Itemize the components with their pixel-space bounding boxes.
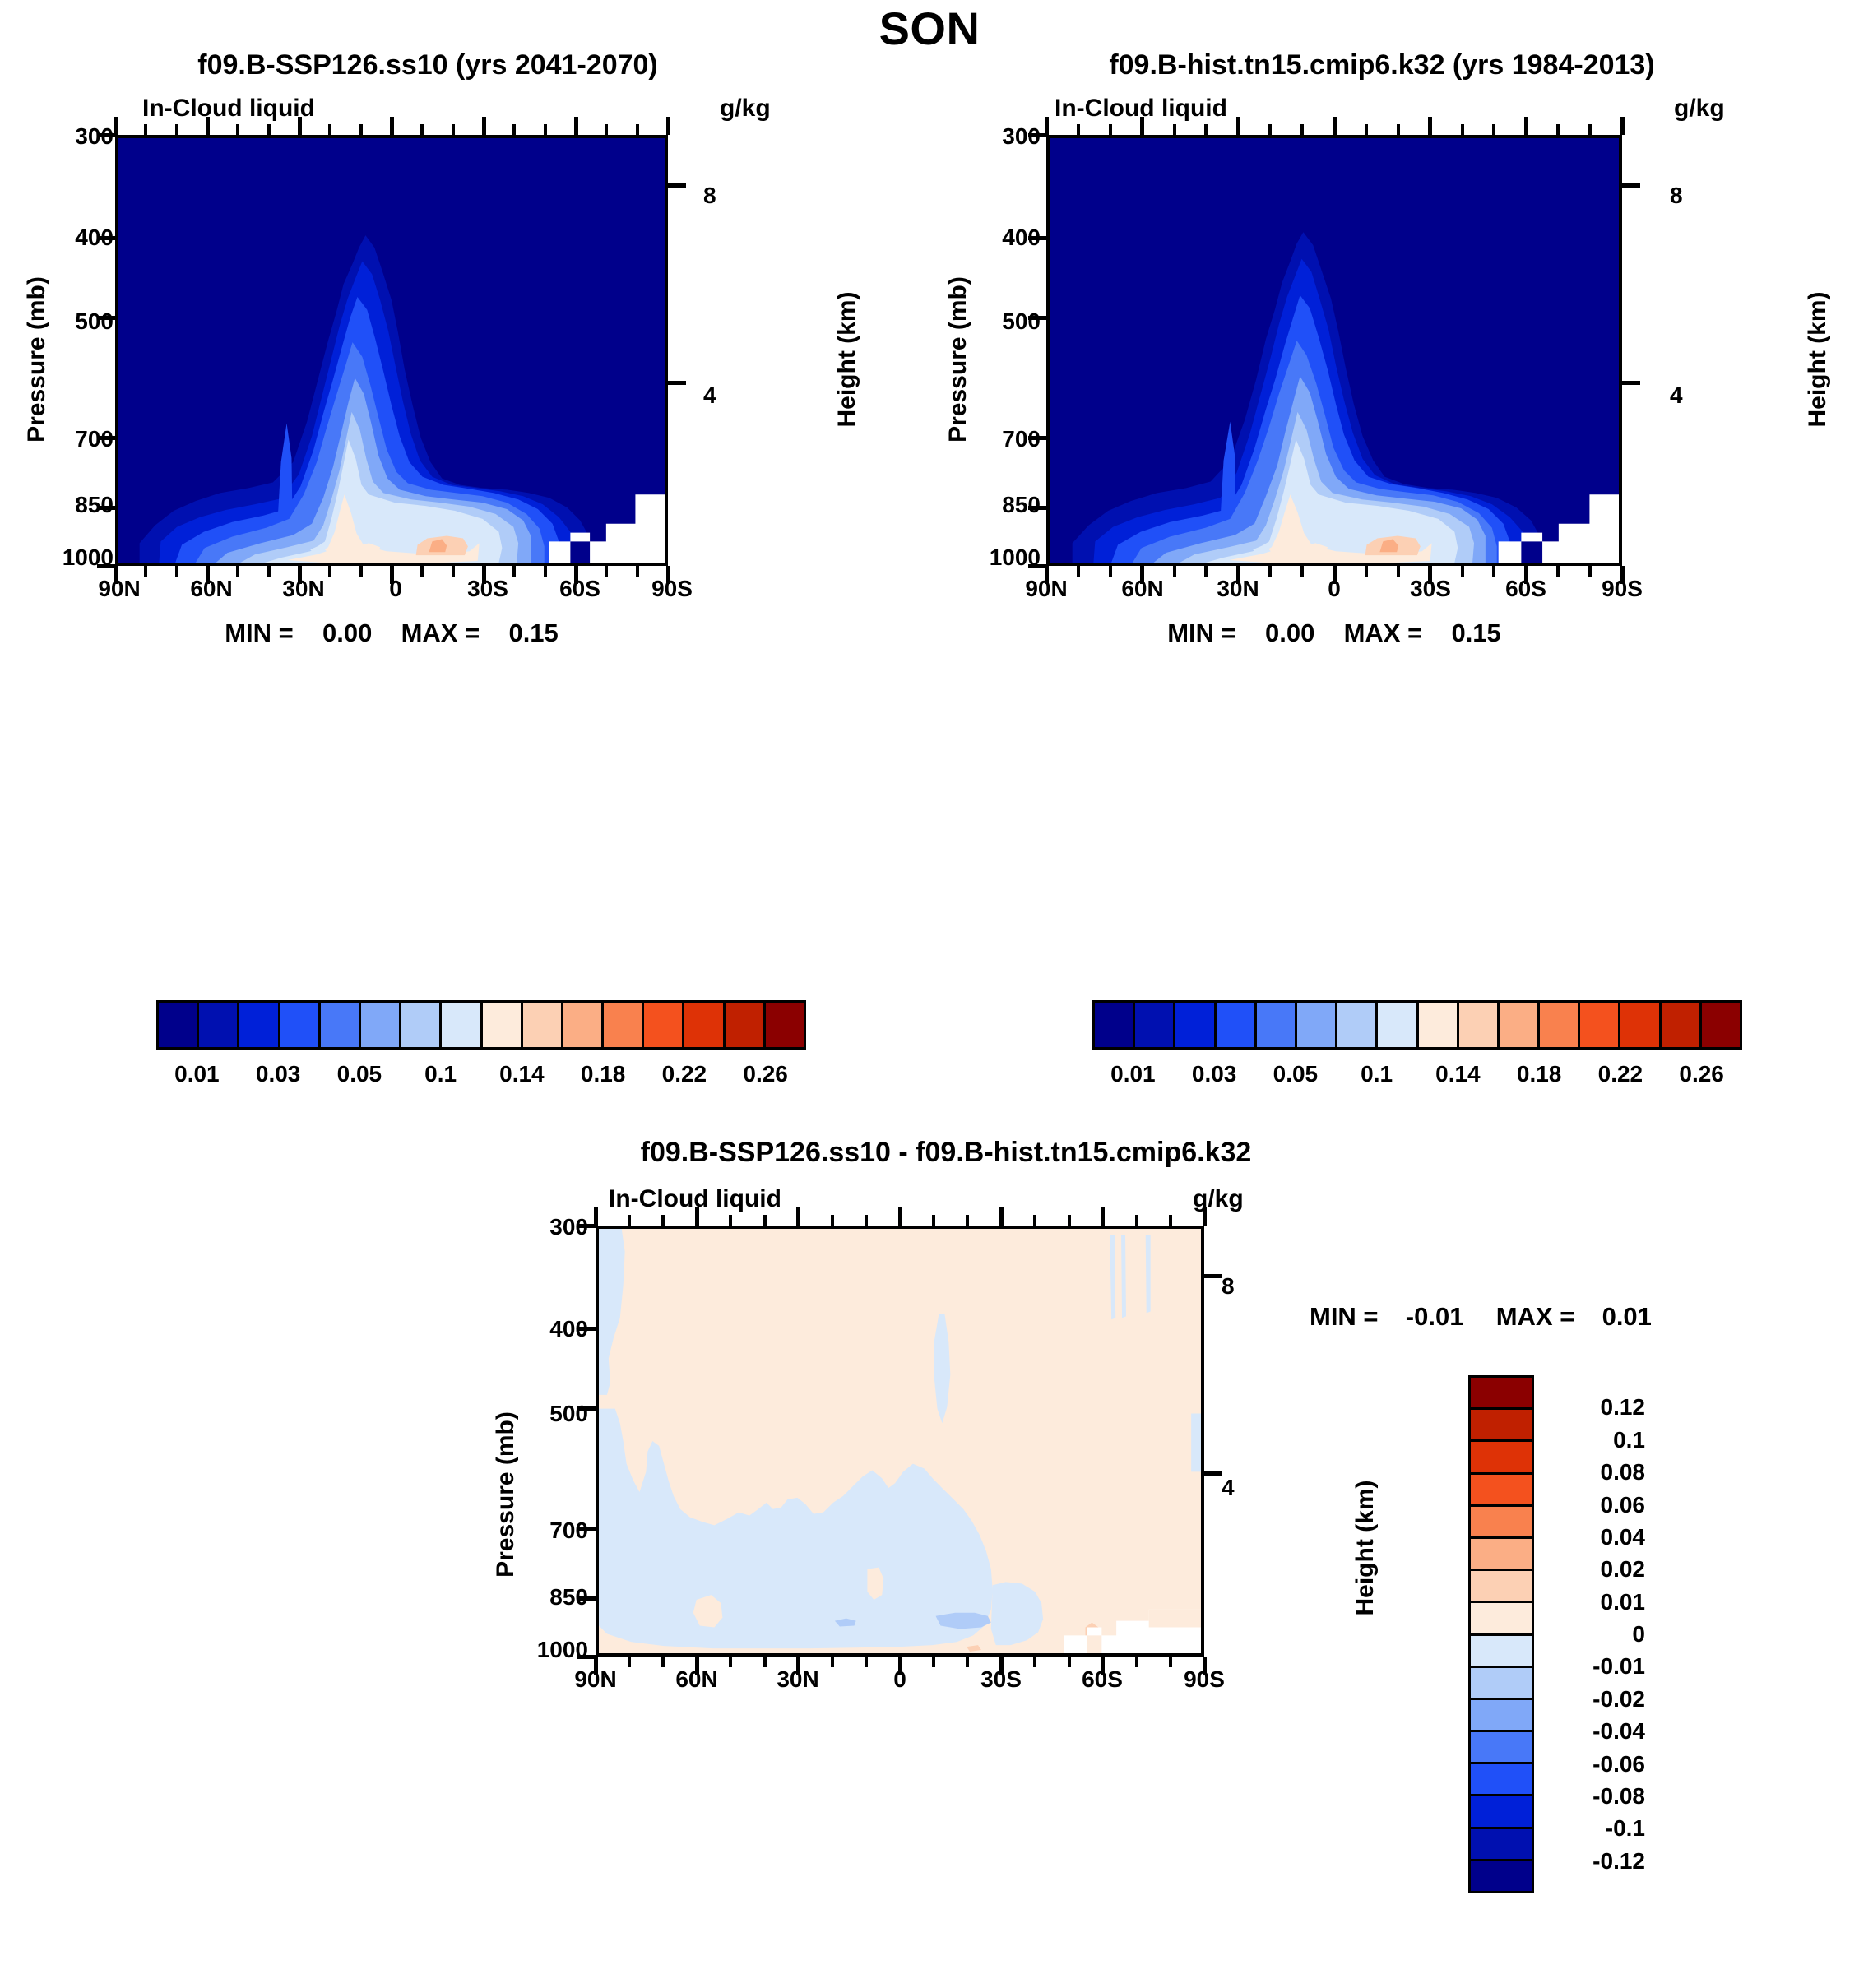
axis-tick bbox=[114, 117, 118, 135]
axis-tick bbox=[1135, 1215, 1138, 1226]
max-label-top-right: MAX = bbox=[1344, 619, 1423, 647]
panel-title-top-right: f09.B-hist.tn15.cmip6.k32 (yrs 1984-2013… bbox=[946, 49, 1818, 81]
colorbar-swatch[interactable] bbox=[766, 1003, 804, 1047]
axis-tick bbox=[1492, 124, 1495, 135]
ytick-height-8-top-right: 8 bbox=[1670, 183, 1683, 209]
ytick-height-4-bottom: 4 bbox=[1222, 1475, 1235, 1501]
colorbar-tick-label: 0.05 bbox=[1273, 1061, 1319, 1087]
colorbar-tick-label: -0.04 bbox=[1546, 1718, 1645, 1745]
axis-tick bbox=[359, 124, 363, 135]
ytick-700-top-right: 700 bbox=[975, 426, 1041, 452]
axis-tick bbox=[1428, 117, 1432, 135]
axis-tick bbox=[1077, 124, 1080, 135]
colorbar-tick-label: 0.26 bbox=[1679, 1061, 1724, 1087]
xtick-0-bottom: 0 bbox=[867, 1666, 933, 1693]
panel-title-bottom: f09.B-SSP126.ss10 - f09.B-hist.tn15.cmip… bbox=[494, 1137, 1398, 1169]
xtick-60S-bottom: 60S bbox=[1069, 1666, 1135, 1693]
colorbar-swatch[interactable] bbox=[1540, 1003, 1580, 1047]
ytick-1000-top-right: 1000 bbox=[960, 544, 1041, 571]
height-axis-label-bottom: Height (km) bbox=[1351, 1441, 1379, 1655]
ytick-300-top-right: 300 bbox=[975, 123, 1041, 150]
xtick-90N-top-left: 90N bbox=[86, 576, 152, 602]
colorbar-swatch[interactable] bbox=[1471, 1861, 1532, 1891]
xtick-30N-bottom: 30N bbox=[765, 1666, 831, 1693]
axis-tick bbox=[1620, 117, 1625, 135]
colorbar-tick-label: -0.02 bbox=[1546, 1686, 1645, 1712]
colorbar-swatch[interactable] bbox=[1471, 1603, 1532, 1635]
xtick-30N-top-left: 30N bbox=[271, 576, 336, 602]
colorbar-swatch[interactable] bbox=[239, 1003, 280, 1047]
colorbar-swatch[interactable] bbox=[321, 1003, 361, 1047]
axis-tick bbox=[1101, 1207, 1105, 1226]
height-axis-label-top-left: Height (km) bbox=[833, 253, 861, 466]
colorbar-tick-label: 0.1 bbox=[1546, 1427, 1645, 1453]
min-label-top-right: MIN = bbox=[1167, 619, 1236, 647]
axis-tick bbox=[661, 1215, 665, 1226]
axis-tick bbox=[729, 1215, 732, 1226]
axis-tick bbox=[236, 124, 239, 135]
colorbar-top-left[interactable] bbox=[156, 1000, 806, 1050]
axis-tick bbox=[636, 124, 639, 135]
colorbar-labels-top-right: 0.010.030.050.10.140.180.220.26 bbox=[1092, 1061, 1742, 1094]
minmax-bottom: MIN = -0.01 MAX = 0.01 bbox=[1310, 1302, 1652, 1332]
xtick-0-top-left: 0 bbox=[363, 576, 429, 602]
axis-tick bbox=[628, 1215, 631, 1226]
units-label-top-right: g/kg bbox=[1674, 95, 1725, 123]
colorbar-swatch[interactable] bbox=[1257, 1003, 1297, 1047]
ytick-850-bottom: 850 bbox=[522, 1584, 588, 1610]
axis-tick bbox=[1622, 183, 1640, 188]
ytick-850-top-left: 850 bbox=[48, 492, 114, 518]
colorbar-tick-label: 0.18 bbox=[1517, 1061, 1562, 1087]
min-label-top-left: MIN = bbox=[225, 619, 294, 647]
colorbar-swatch[interactable] bbox=[361, 1003, 401, 1047]
ytick-400-top-left: 400 bbox=[48, 225, 114, 251]
colorbar-tick-label: 0.14 bbox=[499, 1061, 545, 1087]
colorbar-swatch[interactable] bbox=[1500, 1003, 1540, 1047]
colorbar-swatch[interactable] bbox=[1297, 1003, 1337, 1047]
colorbar-swatch[interactable] bbox=[280, 1003, 321, 1047]
colorbar-swatch[interactable] bbox=[1419, 1003, 1459, 1047]
min-value-top-left: 0.00 bbox=[322, 619, 372, 647]
colorbar-swatch[interactable] bbox=[1175, 1003, 1216, 1047]
colorbar-swatch[interactable] bbox=[1471, 1764, 1532, 1796]
colorbar-tick-label: -0.01 bbox=[1546, 1653, 1645, 1680]
minmax-top-right: MIN = 0.00 MAX = 0.15 bbox=[1046, 619, 1622, 648]
colorbar-swatch[interactable] bbox=[1471, 1668, 1532, 1700]
colorbar-swatch[interactable] bbox=[401, 1003, 442, 1047]
xtick-60S-top-left: 60S bbox=[547, 576, 613, 602]
axis-tick bbox=[1169, 1215, 1172, 1226]
xtick-60N-bottom: 60N bbox=[664, 1666, 730, 1693]
ytick-850-top-right: 850 bbox=[975, 492, 1041, 518]
colorbar-swatch[interactable] bbox=[1471, 1796, 1532, 1828]
colorbar-swatch[interactable] bbox=[1471, 1539, 1532, 1571]
xtick-0-top-right: 0 bbox=[1301, 576, 1367, 602]
colorbar-swatch[interactable] bbox=[1471, 1829, 1532, 1861]
variable-label-bottom: In-Cloud liquid bbox=[609, 1185, 781, 1213]
axis-tick bbox=[175, 124, 178, 135]
pressure-axis-label-top-right: Pressure (mb) bbox=[944, 253, 972, 466]
ytick-height-8-bottom: 8 bbox=[1222, 1273, 1235, 1300]
axis-tick bbox=[1045, 117, 1049, 135]
xtick-60N-top-right: 60N bbox=[1110, 576, 1175, 602]
min-label-bottom: MIN = bbox=[1310, 1302, 1379, 1331]
colorbar-swatch[interactable] bbox=[1378, 1003, 1418, 1047]
axis-tick bbox=[512, 124, 516, 135]
xtick-30S-bottom: 30S bbox=[968, 1666, 1034, 1693]
axis-tick bbox=[668, 381, 686, 385]
ytick-500-bottom: 500 bbox=[522, 1401, 588, 1427]
ytick-1000-top-left: 1000 bbox=[33, 544, 114, 571]
xtick-30S-top-right: 30S bbox=[1398, 576, 1463, 602]
colorbar-swatch[interactable] bbox=[1471, 1700, 1532, 1732]
ytick-height-4-top-left: 4 bbox=[703, 382, 716, 409]
ytick-height-4-top-right: 4 bbox=[1670, 382, 1683, 409]
axis-tick bbox=[267, 124, 271, 135]
colorbar-swatch[interactable] bbox=[1217, 1003, 1257, 1047]
pressure-axis-label-bottom: Pressure (mb) bbox=[492, 1388, 520, 1601]
ytick-700-bottom: 700 bbox=[522, 1518, 588, 1544]
colorbar-tick-label: 0.12 bbox=[1546, 1394, 1645, 1420]
colorbar-top-right[interactable] bbox=[1092, 1000, 1742, 1050]
ytick-height-8-top-left: 8 bbox=[703, 183, 716, 209]
colorbar-tick-label: 0.1 bbox=[424, 1061, 457, 1087]
axis-tick bbox=[1300, 124, 1304, 135]
axis-tick bbox=[1135, 1657, 1138, 1667]
xtick-30S-top-left: 30S bbox=[455, 576, 521, 602]
colorbar-swatch[interactable] bbox=[1471, 1732, 1532, 1764]
colorbar-tick-label: 0.26 bbox=[743, 1061, 788, 1087]
axis-tick bbox=[1588, 124, 1592, 135]
axis-tick bbox=[1397, 124, 1400, 135]
figure-title: SON bbox=[0, 2, 1859, 55]
xtick-60N-top-left: 60N bbox=[178, 576, 244, 602]
axis-tick bbox=[1033, 1215, 1036, 1226]
colorbar-tick-label: 0.06 bbox=[1546, 1492, 1645, 1518]
max-value-bottom: 0.01 bbox=[1602, 1302, 1652, 1331]
min-value-top-right: 0.00 bbox=[1265, 619, 1314, 647]
axis-tick bbox=[1622, 381, 1640, 385]
axis-tick bbox=[831, 1215, 834, 1226]
colorbar-tick-label: 0.14 bbox=[1435, 1061, 1481, 1087]
axis-tick bbox=[544, 124, 547, 135]
colorbar-swatch[interactable] bbox=[199, 1003, 239, 1047]
colorbar-bottom[interactable] bbox=[1468, 1375, 1534, 1893]
colorbar-tick-label: 0.05 bbox=[337, 1061, 382, 1087]
axis-tick bbox=[1109, 124, 1112, 135]
axis-tick bbox=[594, 1207, 598, 1226]
colorbar-tick-label: -0.12 bbox=[1546, 1848, 1645, 1874]
xtick-90S-top-left: 90S bbox=[639, 576, 705, 602]
ytick-700-top-left: 700 bbox=[48, 426, 114, 452]
axis-tick bbox=[1204, 1274, 1222, 1278]
axis-tick bbox=[1033, 1657, 1036, 1667]
colorbar-tick-label: -0.06 bbox=[1546, 1751, 1645, 1777]
xtick-30N-top-right: 30N bbox=[1205, 576, 1271, 602]
colorbar-swatch[interactable] bbox=[726, 1003, 766, 1047]
xtick-90S-top-right: 90S bbox=[1589, 576, 1655, 602]
colorbar-tick-label: 0.1 bbox=[1361, 1061, 1393, 1087]
ytick-1000-bottom: 1000 bbox=[508, 1637, 588, 1663]
axis-tick bbox=[668, 183, 686, 188]
colorbar-tick-label: -0.08 bbox=[1546, 1783, 1645, 1810]
axis-tick bbox=[482, 117, 486, 135]
colorbar-swatch[interactable] bbox=[442, 1003, 482, 1047]
contour-plot-top-left bbox=[115, 135, 668, 566]
axis-tick bbox=[390, 117, 394, 135]
axis-tick bbox=[1365, 124, 1368, 135]
axis-tick bbox=[763, 1215, 767, 1226]
colorbar-swatch[interactable] bbox=[1471, 1507, 1532, 1539]
ytick-500-top-right: 500 bbox=[975, 308, 1041, 335]
colorbar-tick-label: 0.08 bbox=[1546, 1459, 1645, 1485]
colorbar-swatch[interactable] bbox=[1620, 1003, 1661, 1047]
colorbar-tick-label: 0.03 bbox=[1192, 1061, 1237, 1087]
axis-tick bbox=[966, 1215, 969, 1226]
max-value-top-right: 0.15 bbox=[1451, 619, 1500, 647]
colorbar-tick-label: 0.01 bbox=[174, 1061, 220, 1087]
colorbar-swatch[interactable] bbox=[1459, 1003, 1500, 1047]
axis-tick bbox=[574, 117, 578, 135]
colorbar-tick-label: 0.01 bbox=[1546, 1589, 1645, 1615]
colorbar-swatch[interactable] bbox=[1662, 1003, 1702, 1047]
colorbar-tick-label: -0.1 bbox=[1546, 1815, 1645, 1842]
colorbar-labels-top-left: 0.010.030.050.10.140.180.220.26 bbox=[156, 1061, 806, 1094]
colorbar-swatch[interactable] bbox=[483, 1003, 523, 1047]
colorbar-tick-label: 0.02 bbox=[1546, 1556, 1645, 1583]
axis-tick bbox=[1173, 124, 1176, 135]
colorbar-swatch[interactable] bbox=[159, 1003, 199, 1047]
axis-tick bbox=[898, 1207, 902, 1226]
axis-tick bbox=[932, 1215, 935, 1226]
colorbar-swatch[interactable] bbox=[604, 1003, 644, 1047]
axis-tick bbox=[1204, 1471, 1222, 1476]
axis-tick bbox=[999, 1207, 1004, 1226]
variable-label-top-left: In-Cloud liquid bbox=[142, 95, 315, 123]
xtick-90S-bottom: 90S bbox=[1171, 1666, 1237, 1693]
colorbar-tick-label: 0.04 bbox=[1546, 1524, 1645, 1550]
height-axis-label-top-right: Height (km) bbox=[1804, 253, 1832, 466]
axis-tick bbox=[144, 124, 147, 135]
xtick-60S-top-right: 60S bbox=[1493, 576, 1559, 602]
axis-tick bbox=[605, 124, 608, 135]
axis-tick bbox=[1556, 124, 1560, 135]
colorbar-swatch[interactable] bbox=[1095, 1003, 1135, 1047]
contour-plot-bottom bbox=[596, 1226, 1204, 1657]
variable-label-top-right: In-Cloud liquid bbox=[1055, 95, 1227, 123]
axis-tick bbox=[1236, 117, 1240, 135]
colorbar-labels-bottom: 0.120.10.080.060.040.020.010-0.01-0.02-0… bbox=[1546, 1375, 1711, 1893]
axis-tick bbox=[1268, 124, 1272, 135]
colorbar-swatch[interactable] bbox=[1471, 1636, 1532, 1668]
pressure-axis-label-top-left: Pressure (mb) bbox=[23, 253, 51, 466]
panel-title-top-left: f09.B-SSP126.ss10 (yrs 2041-2070) bbox=[58, 49, 798, 81]
colorbar-swatch[interactable] bbox=[1135, 1003, 1175, 1047]
colorbar-swatch[interactable] bbox=[1337, 1003, 1378, 1047]
colorbar-swatch[interactable] bbox=[1702, 1003, 1740, 1047]
ytick-400-top-right: 400 bbox=[975, 225, 1041, 251]
ytick-400-bottom: 400 bbox=[522, 1316, 588, 1342]
axis-tick bbox=[1524, 117, 1528, 135]
units-label-bottom: g/kg bbox=[1193, 1185, 1244, 1213]
min-value-bottom: -0.01 bbox=[1406, 1302, 1464, 1331]
units-label-top-left: g/kg bbox=[720, 95, 771, 123]
colorbar-swatch[interactable] bbox=[644, 1003, 684, 1047]
colorbar-tick-label: 0.22 bbox=[1598, 1061, 1643, 1087]
axis-tick bbox=[420, 124, 424, 135]
colorbar-swatch[interactable] bbox=[1471, 1571, 1532, 1603]
axis-tick bbox=[1461, 124, 1464, 135]
colorbar-swatch[interactable] bbox=[1471, 1442, 1532, 1474]
colorbar-tick-label: 0.22 bbox=[662, 1061, 707, 1087]
minmax-top-left: MIN = 0.00 MAX = 0.15 bbox=[115, 619, 668, 648]
ytick-300-bottom: 300 bbox=[522, 1214, 588, 1240]
axis-tick bbox=[831, 1657, 834, 1667]
colorbar-tick-label: 0.01 bbox=[1110, 1061, 1156, 1087]
axis-tick bbox=[666, 117, 670, 135]
ytick-300-top-left: 300 bbox=[48, 123, 114, 150]
axis-tick bbox=[796, 1207, 800, 1226]
colorbar-swatch[interactable] bbox=[1471, 1378, 1532, 1410]
colorbar-tick-label: 0.18 bbox=[581, 1061, 626, 1087]
axis-tick bbox=[1204, 124, 1208, 135]
axis-tick bbox=[328, 124, 331, 135]
max-value-top-left: 0.15 bbox=[508, 619, 558, 647]
colorbar-swatch[interactable] bbox=[1471, 1410, 1532, 1442]
ytick-500-top-left: 500 bbox=[48, 308, 114, 335]
max-label-bottom: MAX = bbox=[1496, 1302, 1575, 1331]
contour-plot-top-right bbox=[1046, 135, 1622, 566]
axis-tick bbox=[1333, 117, 1337, 135]
xtick-90N-top-right: 90N bbox=[1013, 576, 1079, 602]
colorbar-swatch[interactable] bbox=[1471, 1475, 1532, 1507]
colorbar-swatch[interactable] bbox=[684, 1003, 725, 1047]
xtick-90N-bottom: 90N bbox=[563, 1666, 628, 1693]
colorbar-swatch[interactable] bbox=[563, 1003, 604, 1047]
axis-tick bbox=[865, 1215, 868, 1226]
colorbar-swatch[interactable] bbox=[1580, 1003, 1620, 1047]
max-label-top-left: MAX = bbox=[401, 619, 480, 647]
colorbar-tick-label: 0 bbox=[1546, 1621, 1645, 1647]
axis-tick bbox=[1068, 1215, 1071, 1226]
colorbar-tick-label: 0.03 bbox=[256, 1061, 301, 1087]
colorbar-swatch[interactable] bbox=[523, 1003, 563, 1047]
axis-tick bbox=[729, 1657, 732, 1667]
axis-tick bbox=[452, 124, 455, 135]
